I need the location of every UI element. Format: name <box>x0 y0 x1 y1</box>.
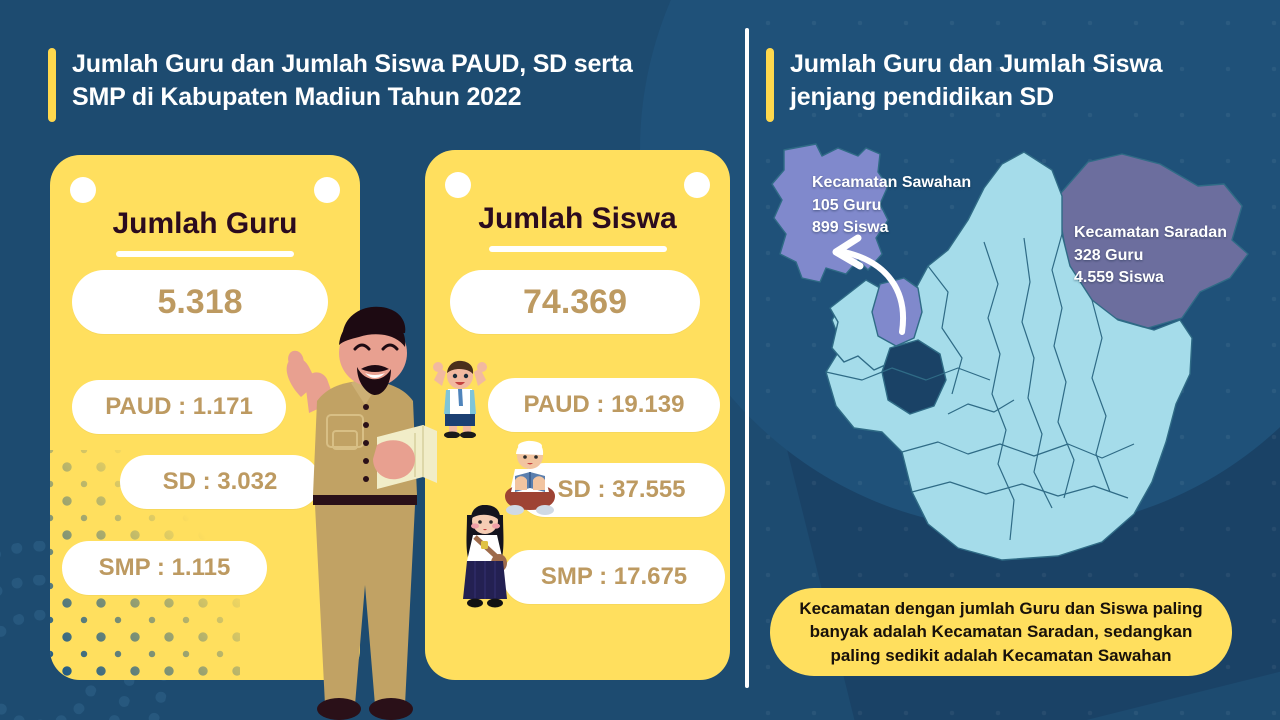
punch-hole-icon <box>445 172 471 198</box>
infographic-canvas: Jumlah Guru dan Jumlah Siswa PAUD, SD se… <box>0 0 1280 720</box>
cheering-student-illustration <box>428 358 492 438</box>
schoolgirl-illustration <box>455 505 515 609</box>
card-siswa-total-value: 74.369 <box>450 270 700 334</box>
card-guru-title: Jumlah Guru <box>50 207 360 241</box>
title-underline <box>489 246 667 252</box>
panel-divider <box>745 28 749 688</box>
map-label-saradan: Kecamatan Saradan 328 Guru 4.559 Siswa <box>1074 222 1274 290</box>
punch-hole-icon <box>70 177 96 203</box>
summary-note-text: Kecamatan dengan jumlah Guru dan Siswa p… <box>799 597 1202 667</box>
card-guru-smp-value: SMP : 1.115 <box>62 541 267 595</box>
map-label-sawahan: Kecamatan Sawahan 105 Guru 899 Siswa <box>812 172 1032 240</box>
title-underline <box>116 251 294 257</box>
card-guru-paud-value: PAUD : 1.171 <box>72 380 286 434</box>
left-panel-title-text: Jumlah Guru dan Jumlah Siswa PAUD, SD se… <box>72 48 633 114</box>
punch-hole-icon <box>314 177 340 203</box>
accent-bar-icon <box>766 48 774 122</box>
card-siswa-paud-value: PAUD : 19.139 <box>488 378 720 432</box>
card-siswa-title: Jumlah Siswa <box>425 202 730 236</box>
summary-note-box: Kecamatan dengan jumlah Guru dan Siswa p… <box>770 588 1232 676</box>
right-panel-title-text: Jumlah Guru dan Jumlah Siswa jenjang pen… <box>790 48 1162 114</box>
left-panel-title: Jumlah Guru dan Jumlah Siswa PAUD, SD se… <box>48 48 728 122</box>
punch-hole-icon <box>684 172 710 198</box>
right-panel-title: Jumlah Guru dan Jumlah Siswa jenjang pen… <box>766 48 1236 122</box>
card-siswa-smp-value: SMP : 17.675 <box>503 550 725 604</box>
accent-bar-icon <box>48 48 56 122</box>
